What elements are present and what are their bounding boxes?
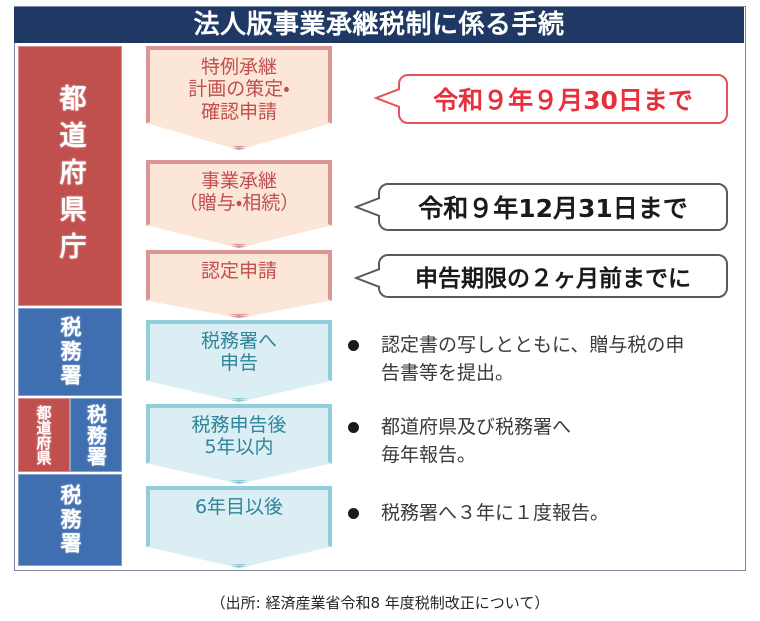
step-label: 6年目以後: [148, 488, 330, 518]
note-item-2: 都道府県及び税務署へ 毎年報告。: [348, 414, 738, 469]
figure-title-bar: 法人版事業承継税制に係る手続: [14, 7, 744, 43]
note-text: 都道府県及び税務署へ 毎年報告。: [381, 414, 571, 469]
callout-deadline-succession: 令和９年12月31日まで: [378, 183, 728, 231]
note-text: 認定書の写しとともに、贈与税の申 告書等を提出。: [381, 332, 684, 387]
bullet-icon: [348, 508, 359, 519]
callout-text: 申告期限の２ヶ月前までに: [415, 259, 691, 293]
authority-label-prefectural-office: 都道府県庁: [18, 46, 122, 306]
callout-tail-icon: [354, 266, 382, 292]
bullet-icon: [348, 422, 359, 433]
authority-label-tax-office-2: 税務署: [70, 398, 122, 472]
note-text: 税務署へ３年に１度報告。: [381, 500, 609, 528]
figure-root: 法人版事業承継税制に係る手続 都道府県庁 税務署 都道府県 税務署 税務署 特例…: [0, 0, 760, 621]
callout-tail-icon: [354, 195, 382, 221]
step-label: 税務申告後 5年以内: [148, 406, 330, 459]
callout-deadline-certification: 申告期限の２ヶ月前までに: [378, 254, 728, 298]
step-label: 認定申請: [148, 252, 330, 282]
authority-label-prefecture-split: 都道府県: [18, 398, 70, 472]
step-label: 税務署へ 申告: [148, 322, 330, 375]
note-item-3: 税務署へ３年に１度報告。: [348, 500, 738, 528]
step-label: 事業承継 （贈与・相続）: [148, 162, 330, 215]
bullet-icon: [348, 340, 359, 351]
authority-label-tax-office-3: 税務署: [18, 474, 122, 566]
callout-text: 令和９年９月30日まで: [433, 81, 693, 117]
step-label: 特例承継 計画の策定・ 確認申請: [148, 48, 330, 123]
source-caption: （出所: 経済産業省令和8 年度税制改正について）: [0, 592, 760, 613]
note-item-1: 認定書の写しとともに、贈与税の申 告書等を提出。: [348, 332, 738, 387]
authority-label-tax-office-1: 税務署: [18, 308, 122, 396]
callout-tail-icon: [374, 86, 402, 112]
callout-text: 令和９年12月31日まで: [418, 189, 688, 225]
callout-deadline-plan: 令和９年９月30日まで: [398, 74, 728, 124]
figure-title: 法人版事業承継税制に係る手続: [193, 12, 564, 38]
